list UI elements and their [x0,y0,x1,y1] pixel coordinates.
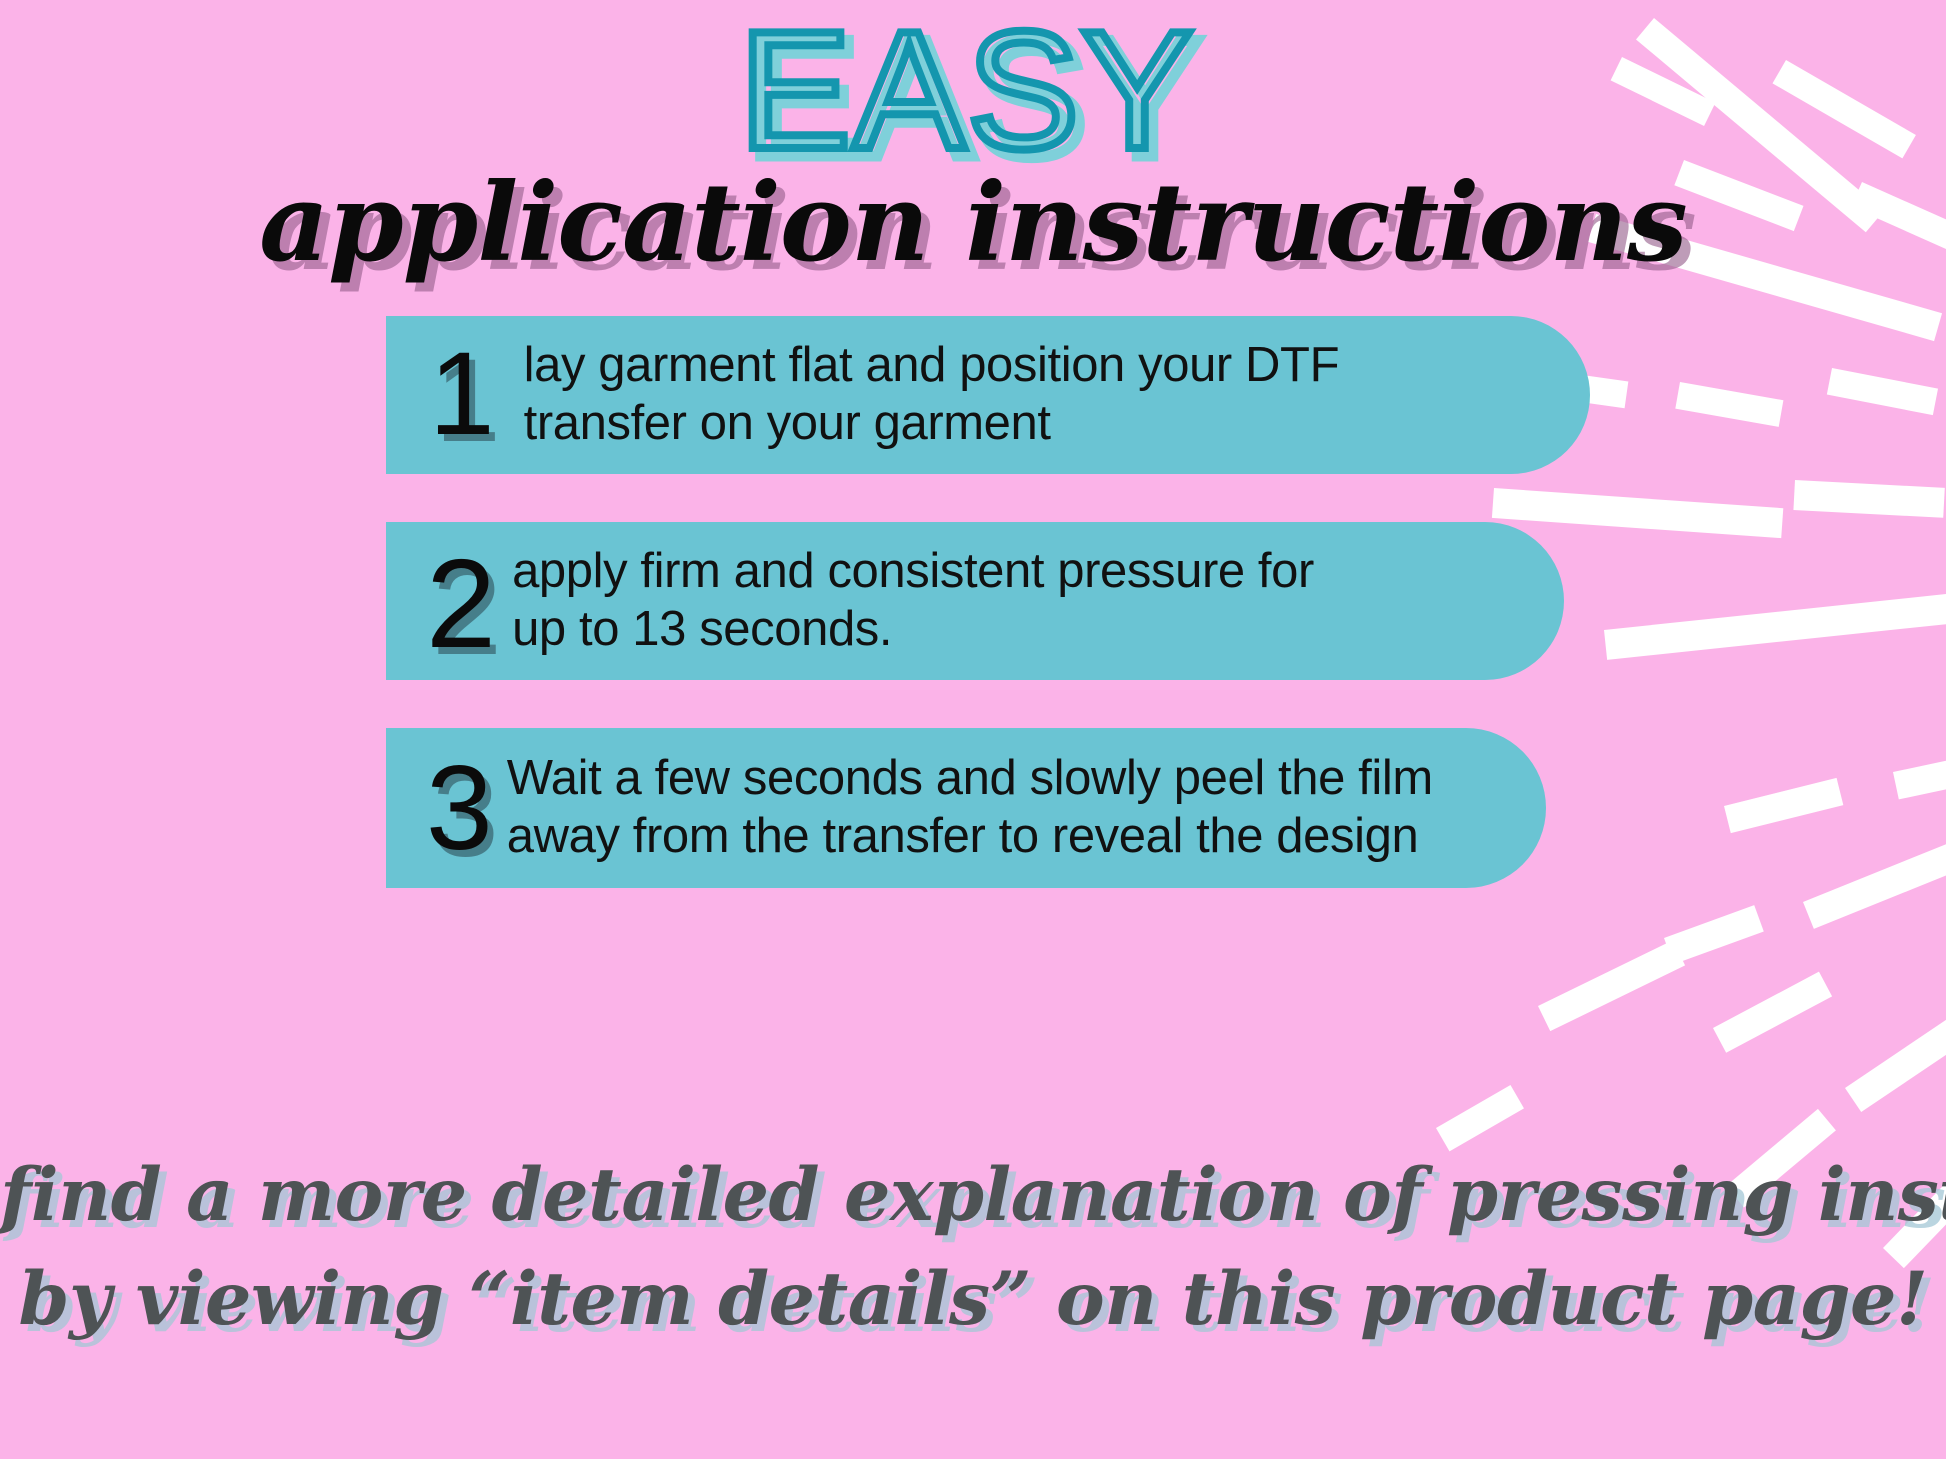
poster-canvas: EASY EASY application instructions 1 lay… [0,0,1946,1459]
step-number-1: 1 [429,343,495,447]
step-text-2-line-2: up to 13 seconds. [512,601,1314,659]
headline-subtitle: application instructions [0,168,1946,278]
headline-easy-svg: EASY EASY [713,6,1233,186]
step-text-3-line-2: away from the transfer to reveal the des… [507,808,1433,866]
headline-easy-text: EASY [739,6,1195,184]
instruction-steps-list: 1 lay garment flat and position your DTF… [386,316,1626,888]
step-text-2-line-1: apply firm and consistent pressure for [512,543,1314,601]
footer-note-line-1: find a more detailed explanation of pres… [0,1144,1946,1248]
step-text-1-line-2: transfer on your garment [524,395,1339,453]
step-number-3: 3 [426,756,493,862]
step-text-1-line-1: lay garment flat and position your DTF [524,337,1339,395]
step-item-2: 2 apply firm and consistent pressure for… [386,522,1564,680]
step-text-2: apply firm and consistent pressure for u… [512,543,1314,659]
step-text-3: Wait a few seconds and slowly peel the f… [507,750,1433,866]
step-item-1: 1 lay garment flat and position your DTF… [386,316,1590,474]
step-item-3: 3 Wait a few seconds and slowly peel the… [386,728,1546,888]
step-text-3-line-1: Wait a few seconds and slowly peel the f… [507,750,1433,808]
footer-note-line-2: by viewing “item details” on this produc… [0,1248,1946,1352]
step-text-1: lay garment flat and position your DTF t… [524,337,1339,453]
footer-note: find a more detailed explanation of pres… [0,1144,1946,1351]
step-number-2: 2 [426,549,496,660]
